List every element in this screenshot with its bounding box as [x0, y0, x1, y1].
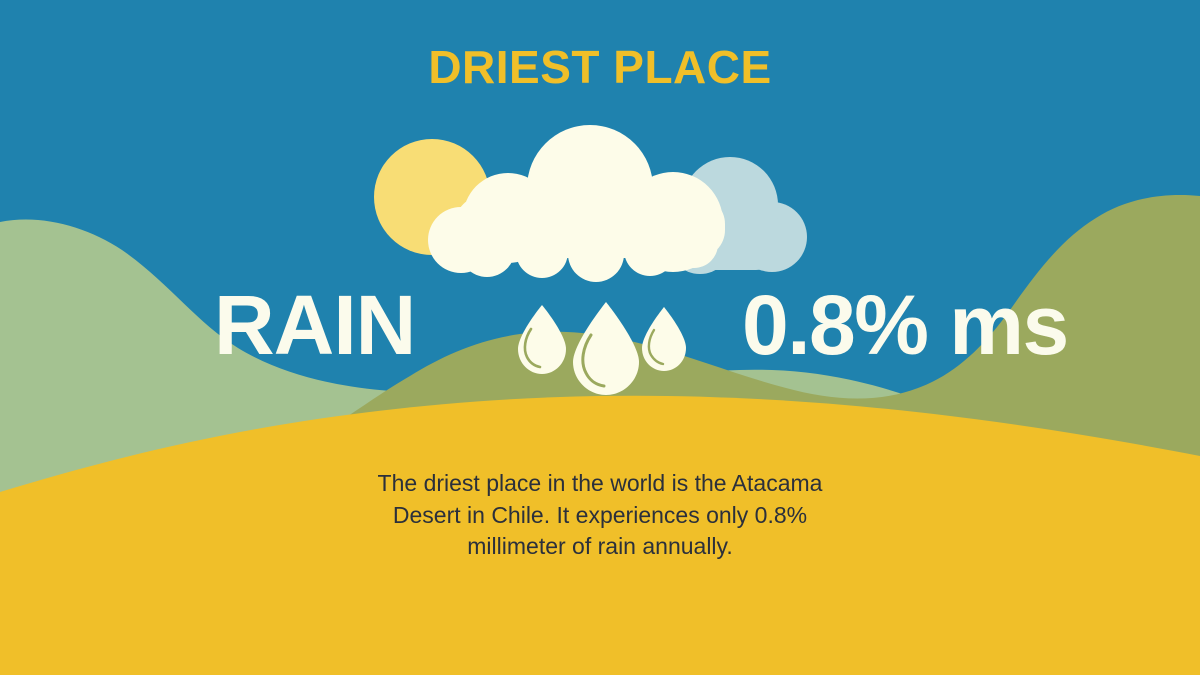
infographic-poster: DRIEST PLACE RAIN 0.8% ms The driest pla… — [0, 0, 1200, 675]
caption-line: millimeter of rain annually. — [300, 531, 900, 563]
caption-line: Desert in Chile. It experiences only 0.8… — [300, 500, 900, 532]
rain-label: RAIN — [214, 283, 415, 367]
rainfall-stat-value: 0.8% ms — [742, 283, 1068, 367]
caption-text: The driest place in the world is the Ata… — [300, 468, 900, 563]
page-title: DRIEST PLACE — [0, 44, 1200, 90]
caption-line: The driest place in the world is the Ata… — [300, 468, 900, 500]
